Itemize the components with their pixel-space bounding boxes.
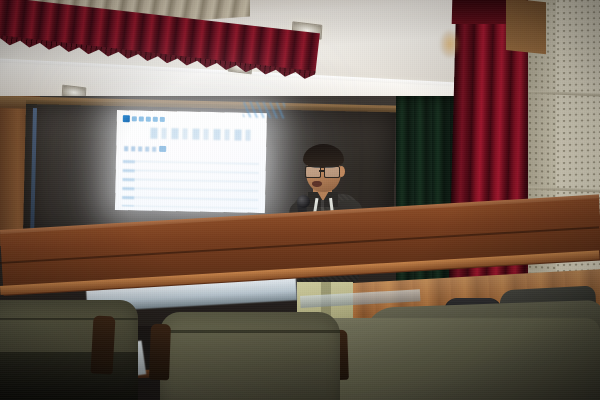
projected-slide xyxy=(115,110,267,213)
seat-back-left-shadow xyxy=(0,352,138,400)
wall-wood-panel-right xyxy=(506,0,546,54)
slide-subtitle-text xyxy=(124,146,158,152)
eyeglasses-icon xyxy=(305,166,342,176)
slide-badge-icon xyxy=(159,146,166,152)
slide-title-text xyxy=(150,128,250,141)
slide-header-chip xyxy=(146,117,151,122)
presenter-hair xyxy=(303,144,344,168)
eyeglasses-lens-left xyxy=(305,166,321,178)
slide-header-chip xyxy=(139,116,144,121)
slide-left-column-text xyxy=(122,160,135,206)
eyeglasses-lens-right xyxy=(324,166,340,178)
seat-armrest xyxy=(149,324,171,381)
seat-armrest xyxy=(90,315,115,374)
auditorium-photo: A man presenting on an auditorium stage … xyxy=(0,0,600,400)
slide-header-bar xyxy=(123,115,185,123)
stage-light-glow xyxy=(440,30,460,58)
slide-logo-icon xyxy=(123,115,130,122)
slide-overspill-light xyxy=(243,101,286,118)
slide-body-text xyxy=(122,160,259,209)
seat-back-middle xyxy=(160,312,340,400)
presenter-mouth xyxy=(312,181,322,187)
eyeglasses-bridge xyxy=(319,170,324,172)
slide-header-chip xyxy=(132,116,137,121)
slide-header-chip xyxy=(153,117,158,122)
slide-header-chip xyxy=(160,117,165,122)
seat-back-middle-seam xyxy=(160,330,340,333)
seat-back-left-seam xyxy=(0,318,138,320)
